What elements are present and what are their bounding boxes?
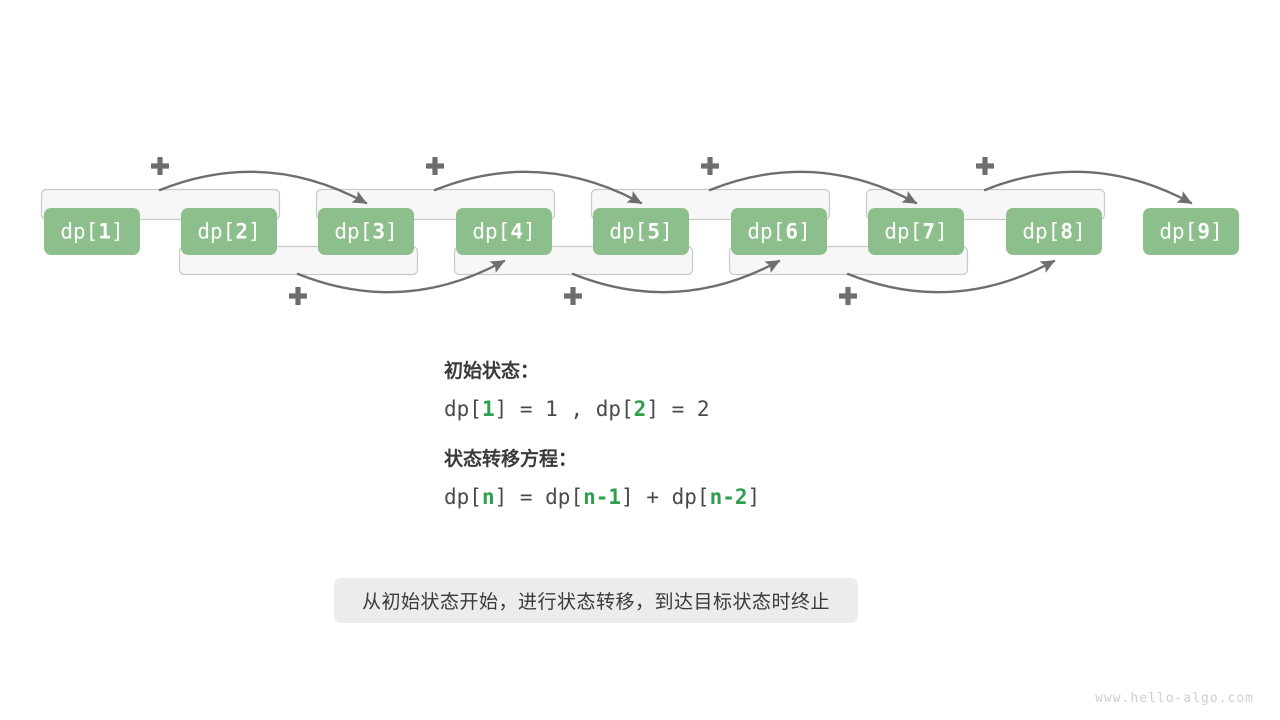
plus-icon-bottom-3-v — [845, 287, 850, 305]
initial-state-heading: 初始状态： — [444, 362, 964, 381]
plus-icon-bottom-2 — [564, 287, 582, 305]
dp-cell-prefix-5: dp[ — [609, 220, 647, 244]
dp-cell-suffix-2: ] — [248, 220, 261, 244]
formula-text: dp[ — [444, 485, 482, 509]
plus-icon-top-1-v — [157, 157, 162, 175]
dp-cell-index-3: 3 — [372, 220, 385, 244]
dp-cell-suffix-6: ] — [798, 220, 811, 244]
dp-cell-3: dp[3] — [318, 208, 414, 255]
dp-cell-suffix-1: ] — [111, 220, 124, 244]
dp-cells-group: dp[1]dp[2]dp[3]dp[4]dp[5]dp[6]dp[7]dp[8]… — [44, 208, 1239, 255]
dp-cell-1: dp[1] — [44, 208, 140, 255]
plus-icon-top-4 — [976, 157, 994, 175]
dp-cell-9: dp[9] — [1143, 208, 1239, 255]
brackets-bottom-group — [180, 247, 968, 275]
initial-state-formula: dp[1] = 1 , dp[2] = 2 — [444, 399, 964, 420]
dp-cell-prefix-6: dp[ — [747, 220, 785, 244]
dp-cell-suffix-4: ] — [523, 220, 536, 244]
dp-cell-suffix-7: ] — [935, 220, 948, 244]
site-watermark: www.hello-algo.com — [1095, 691, 1254, 706]
dp-cell-7: dp[7] — [868, 208, 964, 255]
plus-icon-top-4-v — [982, 157, 987, 175]
dp-cell-index-7: 7 — [922, 220, 935, 244]
dp-cell-suffix-9: ] — [1210, 220, 1223, 244]
formula-highlight: 1 — [482, 397, 495, 421]
dp-cell-index-6: 6 — [785, 220, 798, 244]
explanation-block: 初始状态： dp[1] = 1 , dp[2] = 2 状态转移方程： dp[n… — [444, 362, 964, 538]
plus-icon-top-3 — [701, 157, 719, 175]
dp-cell-index-8: 8 — [1060, 220, 1073, 244]
dp-cell-index-4: 4 — [510, 220, 523, 244]
dp-cell-prefix-8: dp[ — [1022, 220, 1060, 244]
dp-cell-suffix-3: ] — [385, 220, 398, 244]
dp-cell-suffix-8: ] — [1073, 220, 1086, 244]
dp-cell-index-1: 1 — [98, 220, 111, 244]
formula-highlight: 2 — [634, 397, 647, 421]
dp-cell-prefix-7: dp[ — [884, 220, 922, 244]
plus-icon-bottom-1 — [289, 287, 307, 305]
dp-cell-prefix-1: dp[ — [60, 220, 98, 244]
caption-box: 从初始状态开始，进行状态转移，到达目标状态时终止 — [334, 578, 858, 623]
dp-cell-label-6: dp[6] — [747, 220, 810, 244]
dp-cell-index-2: 2 — [235, 220, 248, 244]
transition-equation-heading: 状态转移方程： — [444, 450, 964, 469]
dp-cell-label-5: dp[5] — [609, 220, 672, 244]
dp-cell-prefix-9: dp[ — [1159, 220, 1197, 244]
dp-cell-index-5: 5 — [647, 220, 660, 244]
dp-cell-2: dp[2] — [181, 208, 277, 255]
dp-cell-prefix-3: dp[ — [334, 220, 372, 244]
formula-highlight: n — [482, 485, 495, 509]
dp-cell-label-7: dp[7] — [884, 220, 947, 244]
formula-text: ] — [748, 485, 761, 509]
caption-text: 从初始状态开始，进行状态转移，到达目标状态时终止 — [362, 587, 830, 614]
dp-cell-label-1: dp[1] — [60, 220, 123, 244]
plus-icon-bottom-1-v — [295, 287, 300, 305]
dp-cell-prefix-4: dp[ — [472, 220, 510, 244]
dp-cell-index-9: 9 — [1197, 220, 1210, 244]
plus-icon-top-1 — [151, 157, 169, 175]
plus-icon-top-2-v — [432, 157, 437, 175]
dp-cell-label-4: dp[4] — [472, 220, 535, 244]
formula-highlight: n-2 — [710, 485, 748, 509]
dp-cell-label-8: dp[8] — [1022, 220, 1085, 244]
plus-icon-bottom-2-v — [570, 287, 575, 305]
dp-cell-suffix-5: ] — [660, 220, 673, 244]
plus-icon-top-2 — [426, 157, 444, 175]
dp-cell-8: dp[8] — [1006, 208, 1102, 255]
dp-cell-label-9: dp[9] — [1159, 220, 1222, 244]
formula-text: dp[ — [444, 397, 482, 421]
dp-cell-prefix-2: dp[ — [197, 220, 235, 244]
dp-cell-6: dp[6] — [731, 208, 827, 255]
plus-signs-group — [151, 157, 994, 305]
formula-text: ] + dp[ — [621, 485, 710, 509]
plus-icon-top-3-v — [707, 157, 712, 175]
dp-cell-label-3: dp[3] — [334, 220, 397, 244]
formula-highlight: n-1 — [583, 485, 621, 509]
transition-equation-formula: dp[n] = dp[n-1] + dp[n-2] — [444, 487, 964, 508]
dp-cell-label-2: dp[2] — [197, 220, 260, 244]
formula-text: ] = 2 — [646, 397, 709, 421]
formula-text: ] = dp[ — [495, 485, 584, 509]
plus-icon-bottom-3 — [839, 287, 857, 305]
dp-cell-4: dp[4] — [456, 208, 552, 255]
diagram-canvas: dp[1]dp[2]dp[3]dp[4]dp[5]dp[6]dp[7]dp[8]… — [0, 0, 1280, 720]
formula-text: ] = 1 , dp[ — [495, 397, 634, 421]
dp-cell-5: dp[5] — [593, 208, 689, 255]
